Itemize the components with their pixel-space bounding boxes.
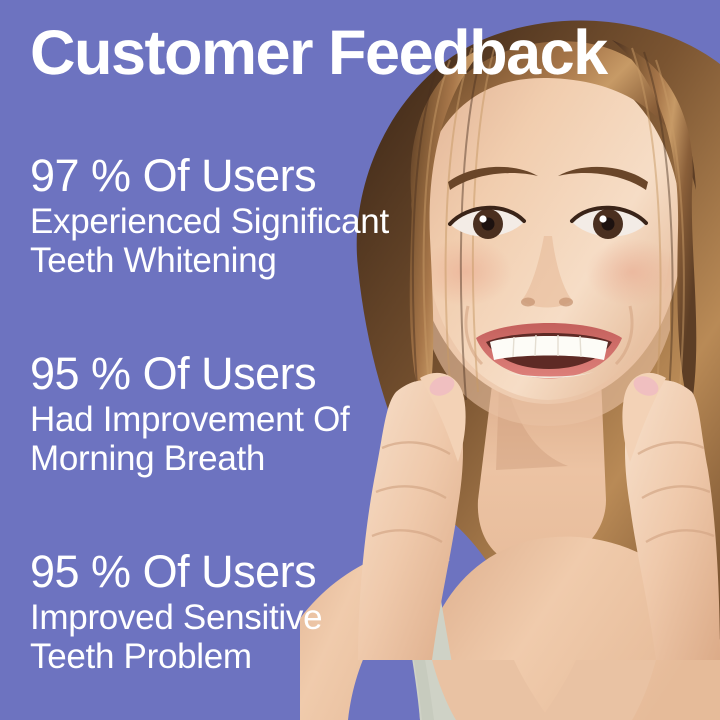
stat-block-1: 97 % Of Users Experienced Significant Te… [30, 152, 389, 280]
stat-sub-1: Experienced Significant Teeth Whitening [30, 202, 389, 280]
stat-sub-3: Improved Sensitive Teeth Problem [30, 598, 322, 676]
stat-sub-2: Had Improvement Of Morning Breath [30, 400, 349, 478]
stat-headline-1: 97 % Of Users [30, 152, 389, 200]
stat-sub-line: Teeth Problem [30, 637, 322, 676]
stat-headline-2: 95 % Of Users [30, 350, 349, 398]
poster-canvas: Customer Feedback 97 % Of Users Experien… [0, 0, 720, 720]
text-overlay: Customer Feedback 97 % Of Users Experien… [0, 0, 720, 720]
stat-block-3: 95 % Of Users Improved Sensitive Teeth P… [30, 548, 322, 676]
stat-sub-line: Had Improvement Of [30, 400, 349, 439]
stat-sub-line: Morning Breath [30, 439, 349, 478]
page-title: Customer Feedback [30, 22, 607, 85]
stat-headline-3: 95 % Of Users [30, 548, 322, 596]
stat-sub-line: Improved Sensitive [30, 598, 322, 637]
stat-block-2: 95 % Of Users Had Improvement Of Morning… [30, 350, 349, 478]
stat-sub-line: Teeth Whitening [30, 241, 389, 280]
stat-sub-line: Experienced Significant [30, 202, 389, 241]
